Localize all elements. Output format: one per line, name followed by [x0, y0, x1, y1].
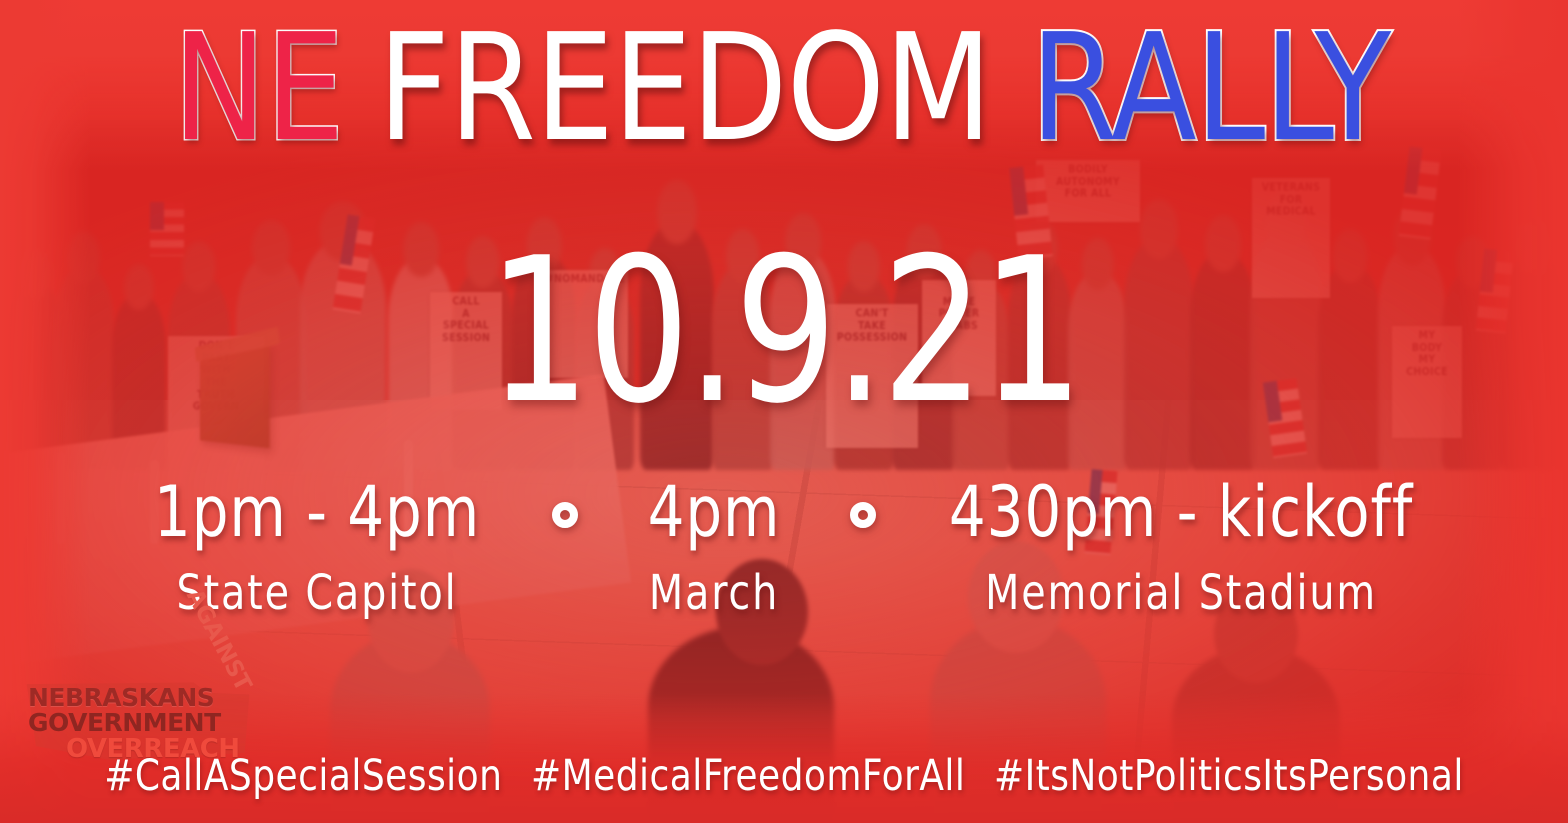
schedule-item-place: March: [607, 568, 820, 618]
schedule-item-time: 4pm: [607, 476, 820, 550]
hashtag-row: #CallASpecialSession #MedicalFreedomForA…: [55, 751, 1513, 801]
schedule-item-time: 430pm - kickoff: [919, 476, 1443, 550]
headline-word-freedom: FREEDOM: [378, 14, 999, 162]
schedule-item-place: State Capitol: [119, 568, 515, 618]
schedule-item: 4pm March: [607, 476, 820, 618]
rally-promo-poster: CALLASPECIALSESSION #NOMANDATE DON'TPART…: [0, 0, 1568, 823]
hashtag: #ItsNotPoliticsItsPersonal: [994, 751, 1464, 801]
schedule-item: 430pm - kickoff Memorial Stadium: [919, 476, 1443, 618]
poster-headline: NE FREEDOM RALLY: [0, 14, 1568, 162]
hashtag: #MedicalFreedomForAll: [531, 751, 965, 801]
ring-bullet-icon: [850, 502, 876, 528]
schedule-item: 1pm - 4pm State Capitol: [119, 476, 515, 618]
event-date: 10.9.21: [78, 232, 1489, 432]
ring-bullet-icon: [552, 502, 578, 528]
headline-word-rally: RALLY: [1030, 14, 1390, 162]
schedule-separator: [532, 476, 598, 528]
schedule-item-time: 1pm - 4pm: [119, 476, 515, 550]
headline-word-ne: NE: [172, 14, 352, 162]
schedule-separator: [830, 476, 896, 528]
logo-line-2: GOVERNMENT: [28, 708, 221, 737]
poster-content: NE FREEDOM RALLY 10.9.21 1pm - 4pm State…: [0, 0, 1568, 823]
event-schedule: 1pm - 4pm State Capitol 4pm March 430pm …: [0, 476, 1568, 618]
schedule-item-place: Memorial Stadium: [919, 568, 1443, 618]
hashtag: #CallASpecialSession: [104, 751, 502, 801]
